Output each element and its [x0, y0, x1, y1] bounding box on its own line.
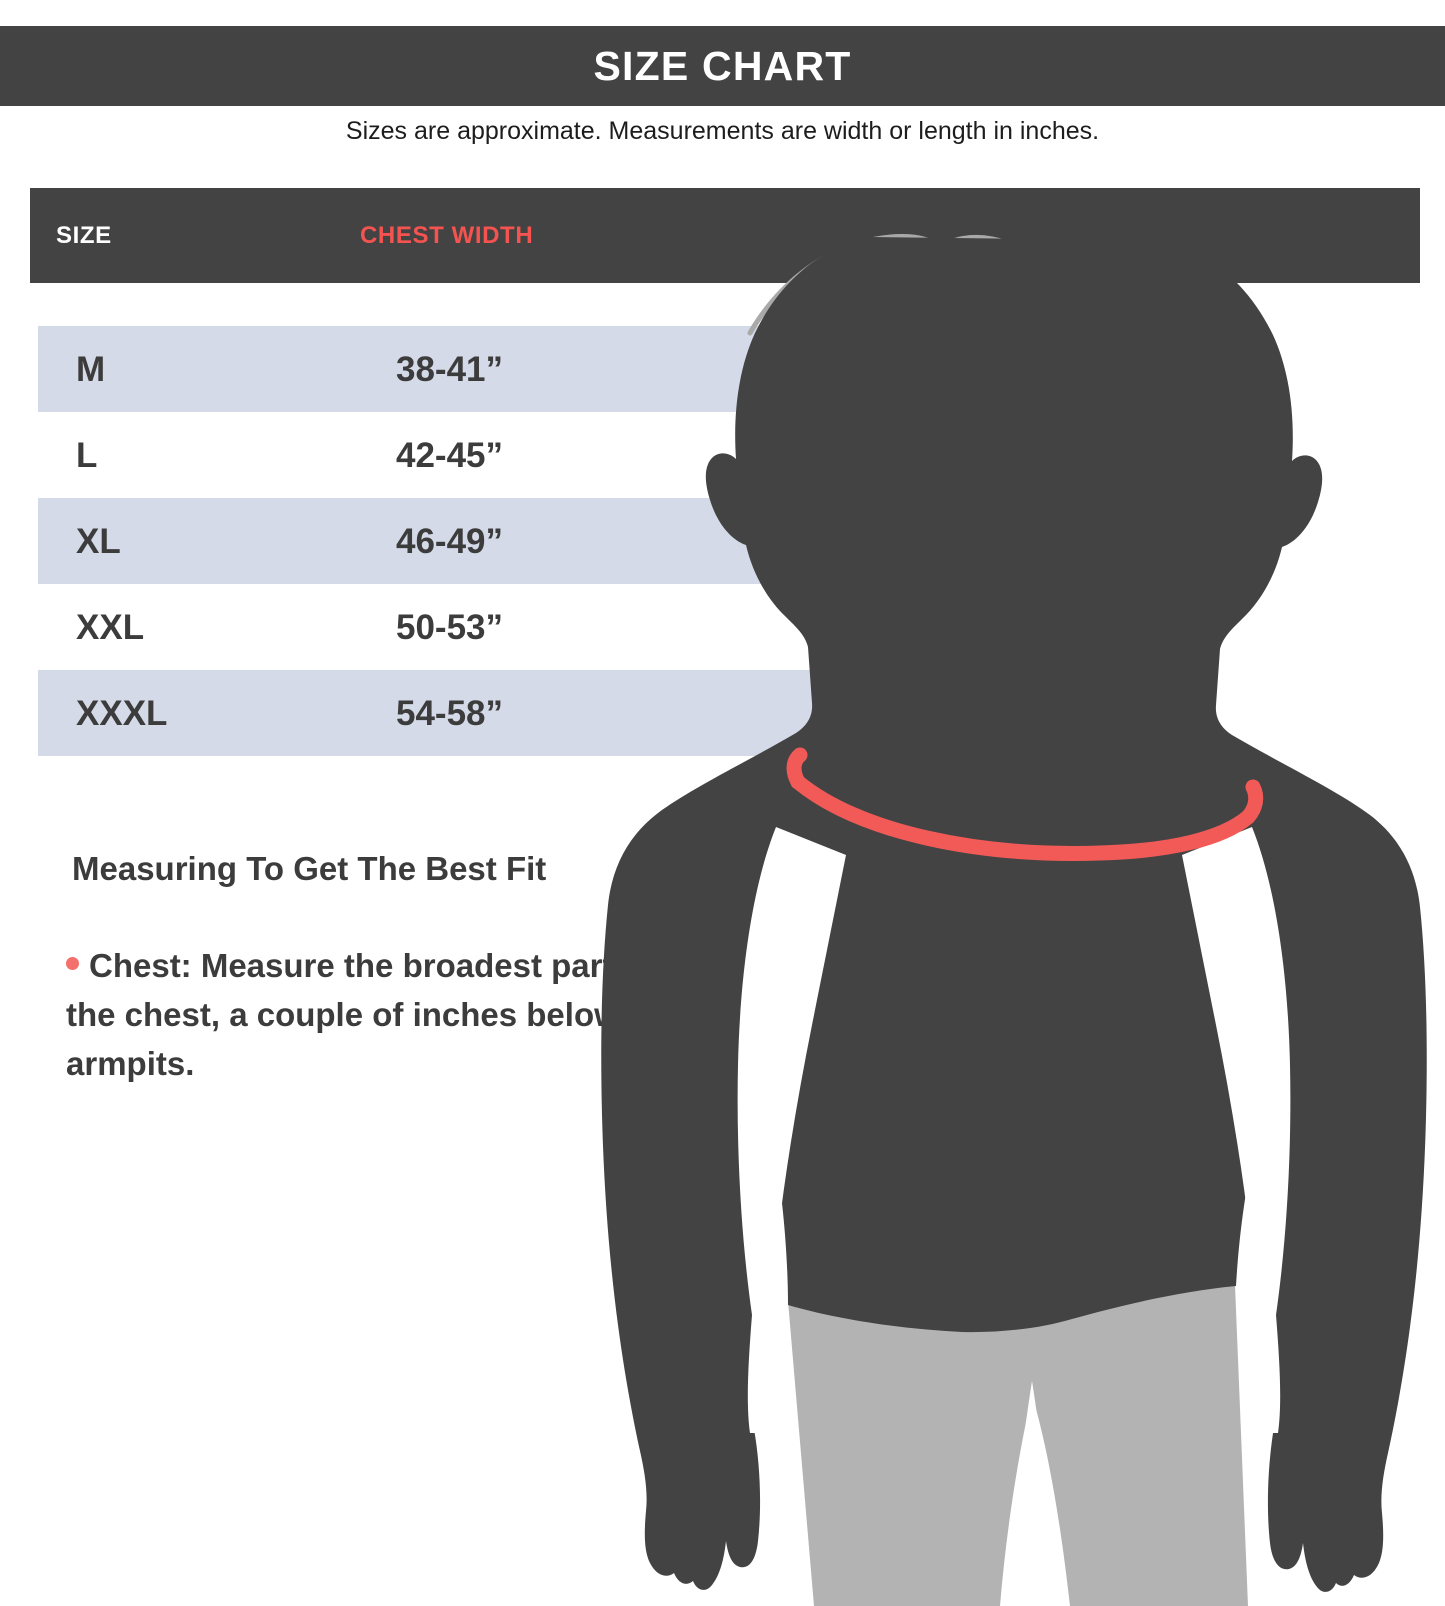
- size-chart-page: SIZE CHART Sizes are approximate. Measur…: [0, 0, 1445, 1606]
- table-row: L 42-45”: [38, 412, 866, 498]
- table-row: XXXL 54-58”: [38, 670, 866, 756]
- left-arm-gap: [738, 827, 846, 1433]
- title-bar: SIZE CHART: [0, 26, 1445, 106]
- column-header-size: SIZE: [56, 224, 112, 248]
- cell-chest: 46-49”: [396, 524, 503, 559]
- bullet-dot-icon: [66, 957, 79, 970]
- cell-chest: 38-41”: [396, 352, 503, 387]
- table-header-row: SIZE CHEST WIDTH: [30, 188, 1420, 283]
- cell-chest: 50-53”: [396, 610, 503, 645]
- cell-size: L: [76, 438, 97, 473]
- cell-size: XL: [76, 524, 121, 559]
- pants-shape: [788, 1285, 1248, 1606]
- measuring-heading: Measuring To Get The Best Fit: [72, 852, 546, 885]
- table-row: M 38-41”: [38, 326, 866, 412]
- measuring-bullet-text: Chest: Measure the broadest part of the …: [66, 947, 678, 1082]
- chest-measuring-band: [794, 755, 1256, 853]
- table-row: XL 46-49”: [38, 498, 866, 584]
- cell-size: XXXL: [76, 696, 167, 731]
- cell-chest: 54-58”: [396, 696, 503, 731]
- right-arm-gap: [1182, 827, 1290, 1433]
- cell-size: M: [76, 352, 105, 387]
- measuring-bullet-item: Chest: Measure the broadest part of the …: [66, 942, 686, 1088]
- cell-chest: 42-45”: [396, 438, 503, 473]
- leg-gap: [1006, 1381, 1058, 1606]
- page-subtitle: Sizes are approximate. Measurements are …: [0, 118, 1445, 146]
- page-title: SIZE CHART: [594, 46, 852, 87]
- table-row: XXL 50-53”: [38, 584, 866, 670]
- size-table-body: M 38-41” L 42-45” XL 46-49” XXL 50-53” X…: [38, 326, 866, 756]
- cell-size: XXL: [76, 610, 144, 645]
- column-header-chest-width: CHEST WIDTH: [360, 224, 533, 248]
